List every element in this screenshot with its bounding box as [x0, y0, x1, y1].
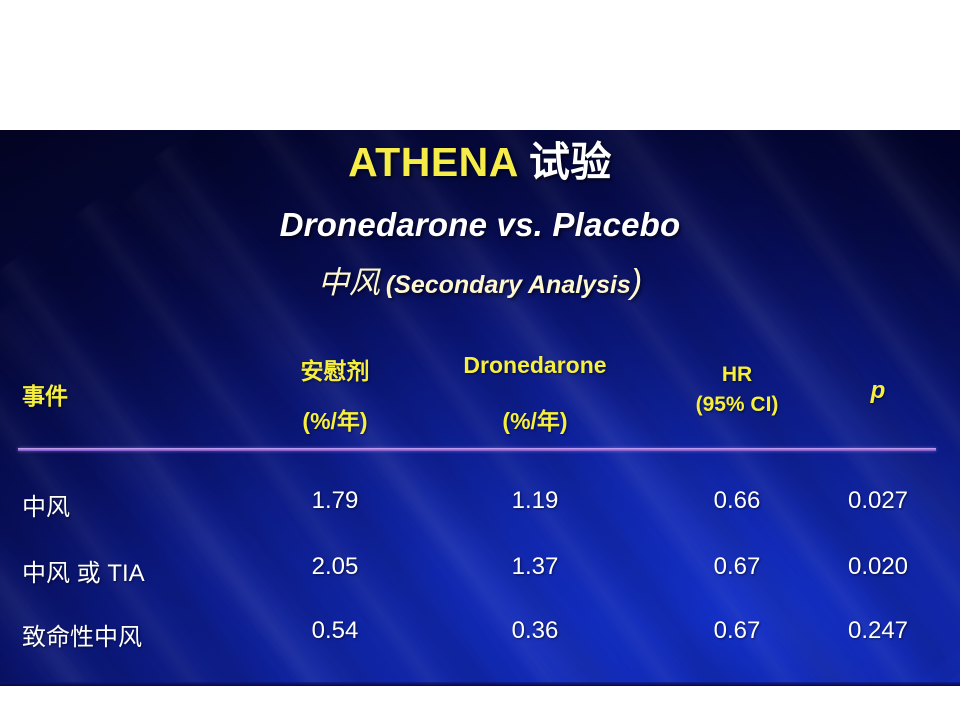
table-cell-placebo: 2.05	[312, 553, 359, 581]
presentation-slide: ATHENA试验 Dronedarone vs. Placebo 中风(Seco…	[0, 130, 960, 686]
table-cell-hr: 0.67	[714, 617, 761, 645]
screenshot-stage: ATHENA试验 Dronedarone vs. Placebo 中风(Seco…	[0, 0, 960, 720]
table-header-divider	[18, 448, 936, 451]
table-header-hr: HR	[722, 363, 752, 387]
table-cell-dronedarone: 0.36	[512, 617, 559, 645]
table-cell-dronedarone: 1.19	[512, 487, 559, 515]
table-header-dronedarone-unit: (%/年)	[502, 402, 567, 436]
table-header-placebo: 安慰剂	[301, 352, 370, 386]
table-row: 致命性中风	[22, 617, 142, 652]
table-header-dronedarone: Dronedarone	[463, 352, 606, 379]
table-header-placebo-unit: (%/年)	[302, 402, 367, 436]
table-row: 中风 或 TIA	[22, 553, 145, 588]
results-table: 事件 安慰剂 (%/年) Dronedarone (%/年) HR (95% C…	[0, 130, 960, 686]
table-cell-hr: 0.67	[714, 553, 761, 581]
table-cell-p: 0.247	[848, 617, 908, 645]
table-cell-dronedarone: 1.37	[512, 553, 559, 581]
table-cell-p: 0.020	[848, 553, 908, 581]
table-cell-hr: 0.66	[714, 487, 761, 515]
table-header-event: 事件	[22, 377, 68, 411]
table-cell-p: 0.027	[848, 487, 908, 515]
table-cell-placebo: 0.54	[312, 617, 359, 645]
table-row: 中风	[22, 487, 70, 522]
table-cell-placebo: 1.79	[312, 487, 359, 515]
table-header-hr-ci: (95% CI)	[696, 393, 779, 417]
table-header-p-value: p	[871, 377, 886, 405]
slide-content: ATHENA试验 Dronedarone vs. Placebo 中风(Seco…	[0, 130, 960, 686]
